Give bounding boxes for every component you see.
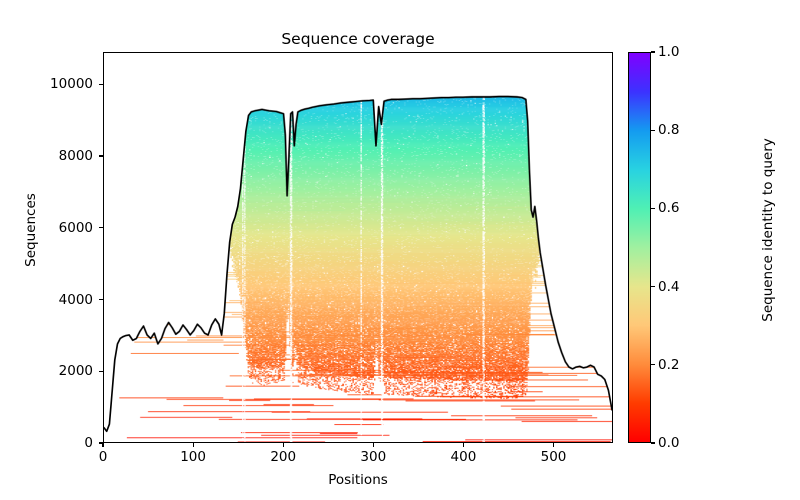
colorbar-tick-mark xyxy=(651,51,655,52)
colorbar-tick-mark xyxy=(651,130,655,131)
colorbar-tick-label: 0.8 xyxy=(658,123,679,137)
colorbar xyxy=(628,52,651,443)
y-tick-label: 4000 xyxy=(59,293,93,307)
main-plot-area xyxy=(103,52,613,443)
x-tick-label: 500 xyxy=(524,450,584,465)
colorbar-tick-mark xyxy=(651,208,655,209)
y-tick-label: 2000 xyxy=(59,364,93,378)
x-tick-label: 100 xyxy=(163,450,223,465)
colorbar-tick-mark xyxy=(651,364,655,365)
y-tick-mark xyxy=(99,299,103,300)
page-title: Sequence coverage xyxy=(103,30,613,48)
x-tick-mark xyxy=(283,443,284,447)
x-tick-mark xyxy=(553,443,554,447)
y-tick-mark xyxy=(99,84,103,85)
y-axis-label: Sequences xyxy=(23,140,39,320)
y-tick-mark xyxy=(99,155,103,156)
x-tick-mark xyxy=(373,443,374,447)
colorbar-gradient xyxy=(629,53,650,442)
colorbar-tick-label: 0.4 xyxy=(658,280,679,294)
x-tick-mark xyxy=(193,443,194,447)
colorbar-tick-mark xyxy=(651,442,655,443)
coverage-line xyxy=(104,53,612,442)
x-axis-label: Positions xyxy=(103,472,613,488)
x-tick-label: 200 xyxy=(253,450,313,465)
x-tick-label: 300 xyxy=(343,450,403,465)
colorbar-label: Sequence identity to query xyxy=(760,85,776,375)
x-tick-mark xyxy=(463,443,464,447)
colorbar-tick-label: 0.0 xyxy=(658,436,679,450)
x-tick-mark xyxy=(102,443,103,447)
y-tick-label: 0 xyxy=(84,436,93,450)
colorbar-tick-label: 0.2 xyxy=(658,358,679,372)
colorbar-tick-label: 0.6 xyxy=(658,201,679,215)
y-tick-label: 10000 xyxy=(50,77,93,91)
y-tick-label: 6000 xyxy=(59,221,93,235)
y-tick-label: 8000 xyxy=(59,149,93,163)
colorbar-tick-mark xyxy=(651,286,655,287)
figure-canvas: Sequence coverage Sequences Positions Se… xyxy=(0,0,800,500)
y-tick-mark xyxy=(99,227,103,228)
y-tick-mark xyxy=(99,371,103,372)
x-tick-label: 0 xyxy=(73,450,133,465)
colorbar-tick-label: 1.0 xyxy=(658,45,679,59)
x-tick-label: 400 xyxy=(433,450,493,465)
